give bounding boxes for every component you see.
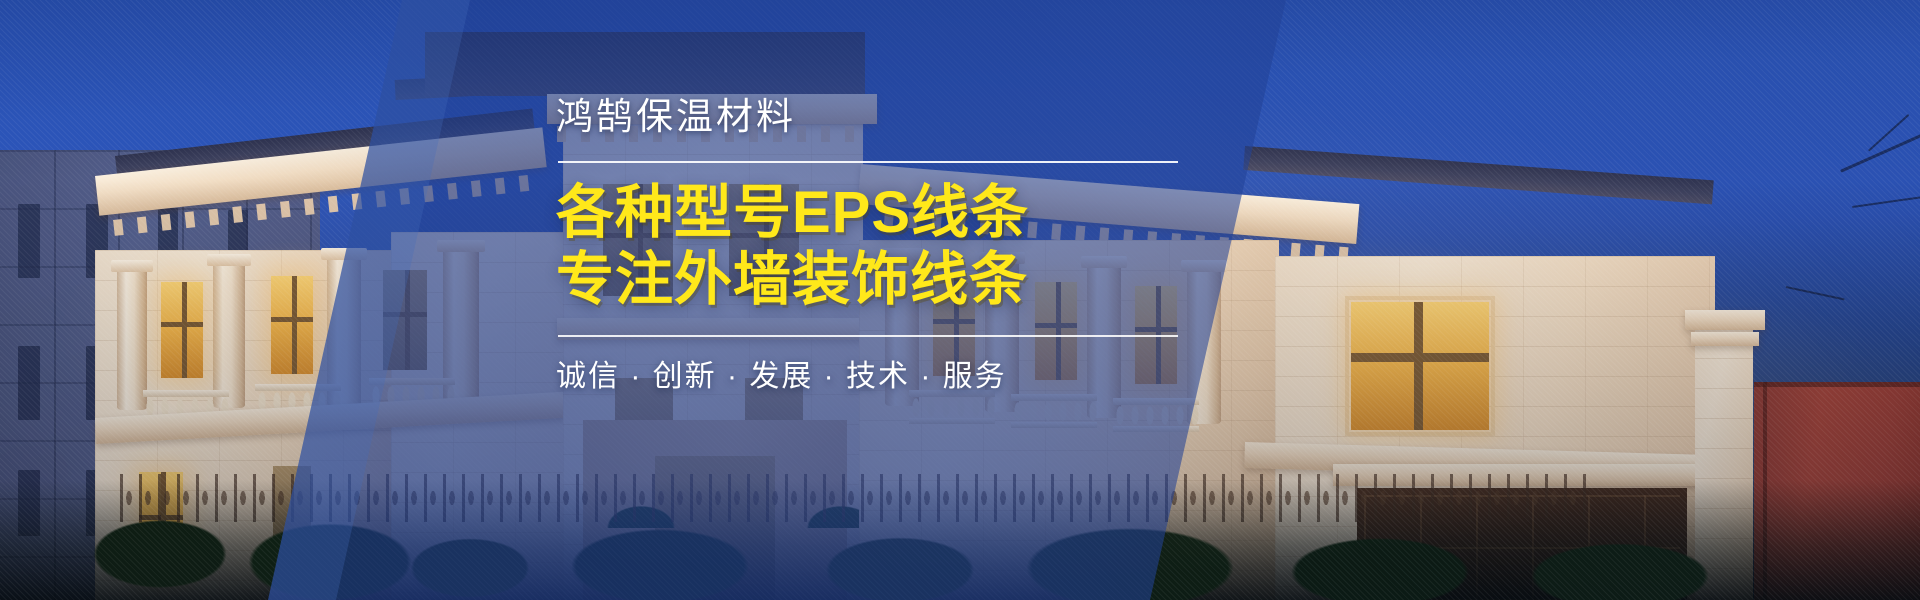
- banner-copy: 鸿鹄保温材料 各种型号EPS线条 专注外墙装饰线条 诚信 · 创新 · 发展 ·…: [556, 96, 1316, 395]
- tagline: 诚信 · 创新 · 发展 · 技术 · 服务: [556, 359, 1316, 395]
- headline-line-2: 专注外墙装饰线条: [556, 246, 1316, 313]
- divider-top: [558, 161, 1178, 163]
- promotional-banner: 鸿鹄保温材料 各种型号EPS线条 专注外墙装饰线条 诚信 · 创新 · 发展 ·…: [0, 0, 1920, 600]
- divider-bottom: [558, 335, 1178, 337]
- brand-name: 鸿鹄保温材料: [556, 96, 1316, 139]
- headline-line-1: 各种型号EPS线条: [556, 179, 1316, 246]
